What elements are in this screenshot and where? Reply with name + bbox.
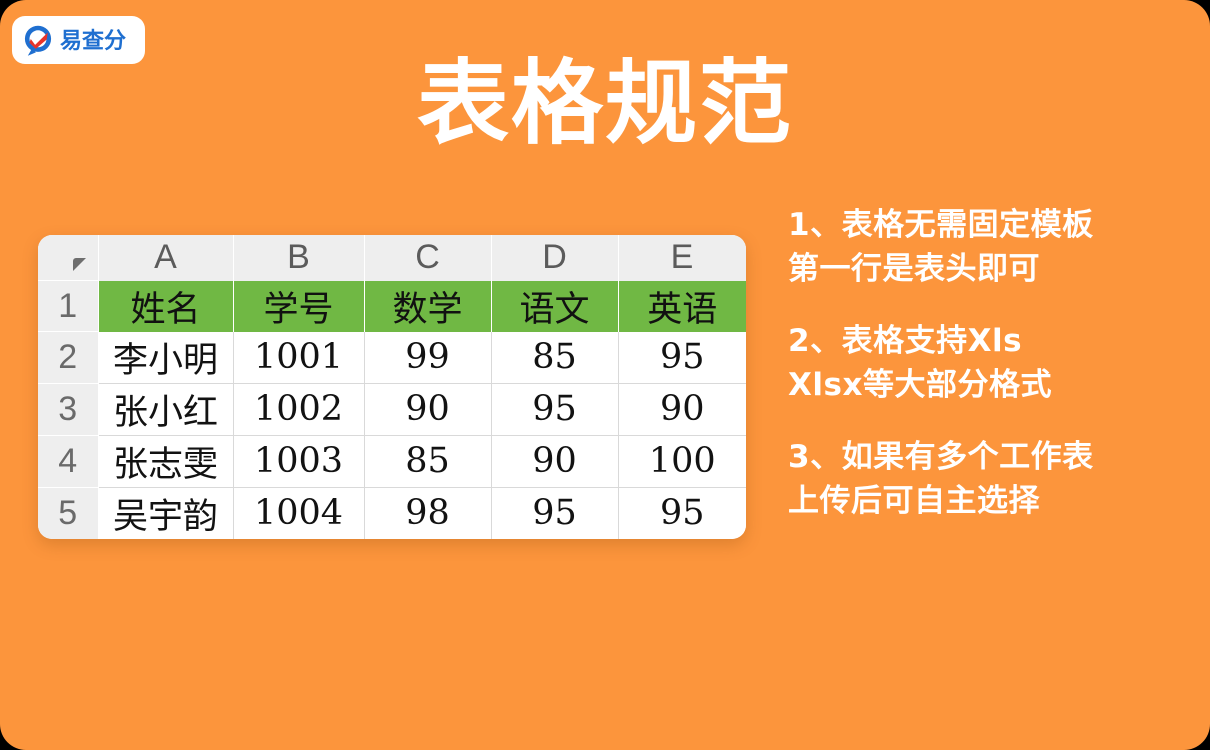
column-header-d[interactable]: D — [491, 235, 618, 281]
note-3-line-1: 3、如果有多个工作表 — [788, 435, 1188, 479]
cell-c4[interactable]: 85 — [364, 435, 491, 487]
page-title: 表格规范 — [0, 52, 1210, 155]
cell-a4[interactable]: 张志雯 — [98, 435, 233, 487]
cell-a3[interactable]: 张小红 — [98, 383, 233, 435]
cell-c5[interactable]: 98 — [364, 487, 491, 539]
cell-c2[interactable]: 99 — [364, 332, 491, 384]
select-all-cell[interactable] — [38, 235, 98, 281]
note-item-2: 2、表格支持Xls Xlsx等大部分格式 — [788, 319, 1188, 407]
cell-e4[interactable]: 100 — [618, 435, 746, 487]
cell-b4[interactable]: 1003 — [233, 435, 364, 487]
row-number-5[interactable]: 5 — [38, 487, 98, 539]
cell-d4[interactable]: 90 — [491, 435, 618, 487]
cell-e3[interactable]: 90 — [618, 383, 746, 435]
note-2-line-1: 2、表格支持Xls — [788, 319, 1188, 363]
cell-a2[interactable]: 李小明 — [98, 332, 233, 384]
cell-b2[interactable]: 1001 — [233, 332, 364, 384]
row-number-3[interactable]: 3 — [38, 383, 98, 435]
table-row: 5 吴宇韵 1004 98 95 95 — [38, 487, 746, 539]
note-1-line-1: 1、表格无需固定模板 — [788, 203, 1188, 247]
spreadsheet-table: A B C D E 1 姓名 学号 数学 语文 英语 2 李小明 — [38, 235, 746, 539]
brand-wordmark-text: 易查分 — [60, 29, 126, 53]
column-header-a[interactable]: A — [98, 235, 233, 281]
table-row: 2 李小明 1001 99 85 95 — [38, 332, 746, 384]
table-row: 1 姓名 学号 数学 语文 英语 — [38, 281, 746, 332]
cell-e1[interactable]: 英语 — [618, 281, 746, 332]
cell-e2[interactable]: 95 — [618, 332, 746, 384]
table-row: 3 张小红 1002 90 95 90 — [38, 383, 746, 435]
note-1-line-2: 第一行是表头即可 — [788, 247, 1188, 291]
cell-e5[interactable]: 95 — [618, 487, 746, 539]
row-number-2[interactable]: 2 — [38, 332, 98, 384]
slide-root: 易查分 表格规范 A B C D E — [0, 0, 1210, 750]
spreadsheet-card: A B C D E 1 姓名 学号 数学 语文 英语 2 李小明 — [38, 235, 746, 539]
column-header-b[interactable]: B — [233, 235, 364, 281]
cell-a5[interactable]: 吴宇韵 — [98, 487, 233, 539]
column-header-e[interactable]: E — [618, 235, 746, 281]
note-item-3: 3、如果有多个工作表 上传后可自主选择 — [788, 435, 1188, 523]
select-all-triangle-icon[interactable] — [73, 258, 86, 271]
cell-c1[interactable]: 数学 — [364, 281, 491, 332]
row-number-1[interactable]: 1 — [38, 281, 98, 332]
cell-b3[interactable]: 1002 — [233, 383, 364, 435]
cell-b5[interactable]: 1004 — [233, 487, 364, 539]
column-header-row: A B C D E — [38, 235, 746, 281]
cell-d3[interactable]: 95 — [491, 383, 618, 435]
row-number-4[interactable]: 4 — [38, 435, 98, 487]
cell-b1[interactable]: 学号 — [233, 281, 364, 332]
table-row: 4 张志雯 1003 85 90 100 — [38, 435, 746, 487]
note-item-1: 1、表格无需固定模板 第一行是表头即可 — [788, 203, 1188, 291]
column-header-c[interactable]: C — [364, 235, 491, 281]
note-2-line-2: Xlsx等大部分格式 — [788, 363, 1188, 407]
brand-wordmark: 易查分 — [60, 27, 138, 53]
cell-a1[interactable]: 姓名 — [98, 281, 233, 332]
notes-list: 1、表格无需固定模板 第一行是表头即可 2、表格支持Xls Xlsx等大部分格式… — [788, 203, 1188, 523]
note-3-line-2: 上传后可自主选择 — [788, 479, 1188, 523]
cell-d1[interactable]: 语文 — [491, 281, 618, 332]
cell-d2[interactable]: 85 — [491, 332, 618, 384]
cell-c3[interactable]: 90 — [364, 383, 491, 435]
cell-d5[interactable]: 95 — [491, 487, 618, 539]
